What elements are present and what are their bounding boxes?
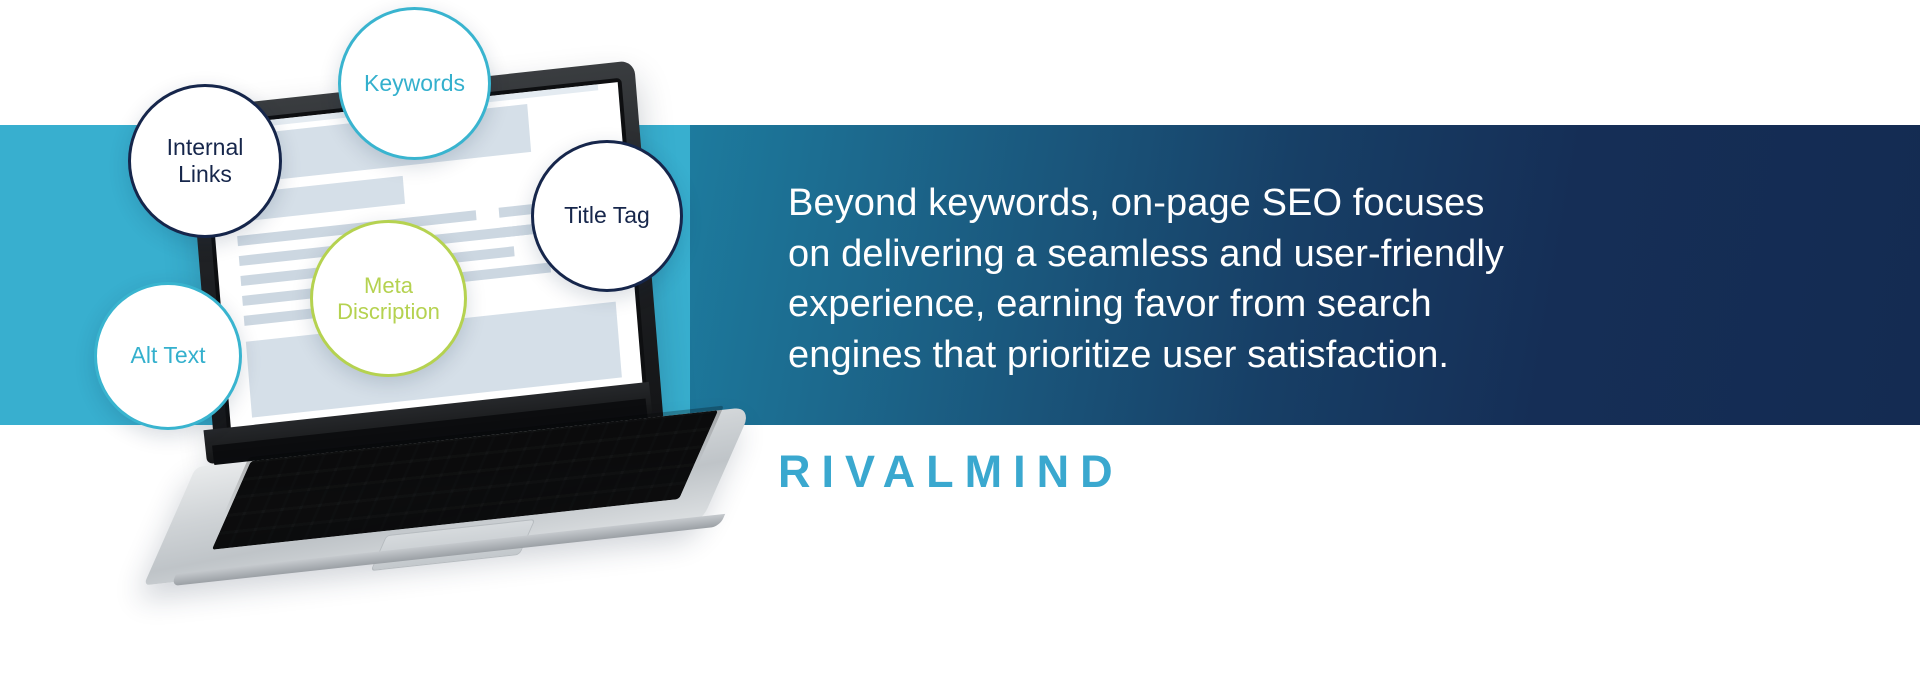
bubble-meta-discription[interactable]: Meta Discription — [310, 220, 467, 377]
bubble-keywords-label: Keywords — [364, 70, 465, 97]
bubble-keywords[interactable]: Keywords — [338, 7, 491, 160]
infographic-banner: Internal Links Keywords Title Tag Meta D… — [0, 0, 1920, 696]
bubble-internal-links[interactable]: Internal Links — [128, 84, 282, 238]
laptop-base — [168, 400, 748, 560]
bubble-alt-text[interactable]: Alt Text — [94, 282, 242, 430]
copy-line-4: engines that prioritize user satisfactio… — [788, 330, 1508, 381]
bubble-internal-links-line2: Links — [167, 161, 244, 188]
copy-line-3: experience, earning favor from search — [788, 279, 1508, 330]
bubble-internal-links-line1: Internal — [167, 134, 244, 161]
copy-line-2: on delivering a seamless and user-friend… — [788, 229, 1508, 280]
bubble-title-tag[interactable]: Title Tag — [531, 140, 683, 292]
description-copy: Beyond keywords, on-page SEO focuses on … — [788, 178, 1508, 380]
bubble-meta-line2: Discription — [337, 299, 440, 325]
bubble-title-tag-label: Title Tag — [564, 202, 650, 229]
rivalmind-logo[interactable]: RIVALMIND — [778, 446, 1124, 498]
bubble-meta-line1: Meta — [337, 273, 440, 299]
bubble-alt-text-label: Alt Text — [131, 342, 206, 369]
copy-line-1: Beyond keywords, on-page SEO focuses — [788, 178, 1508, 229]
